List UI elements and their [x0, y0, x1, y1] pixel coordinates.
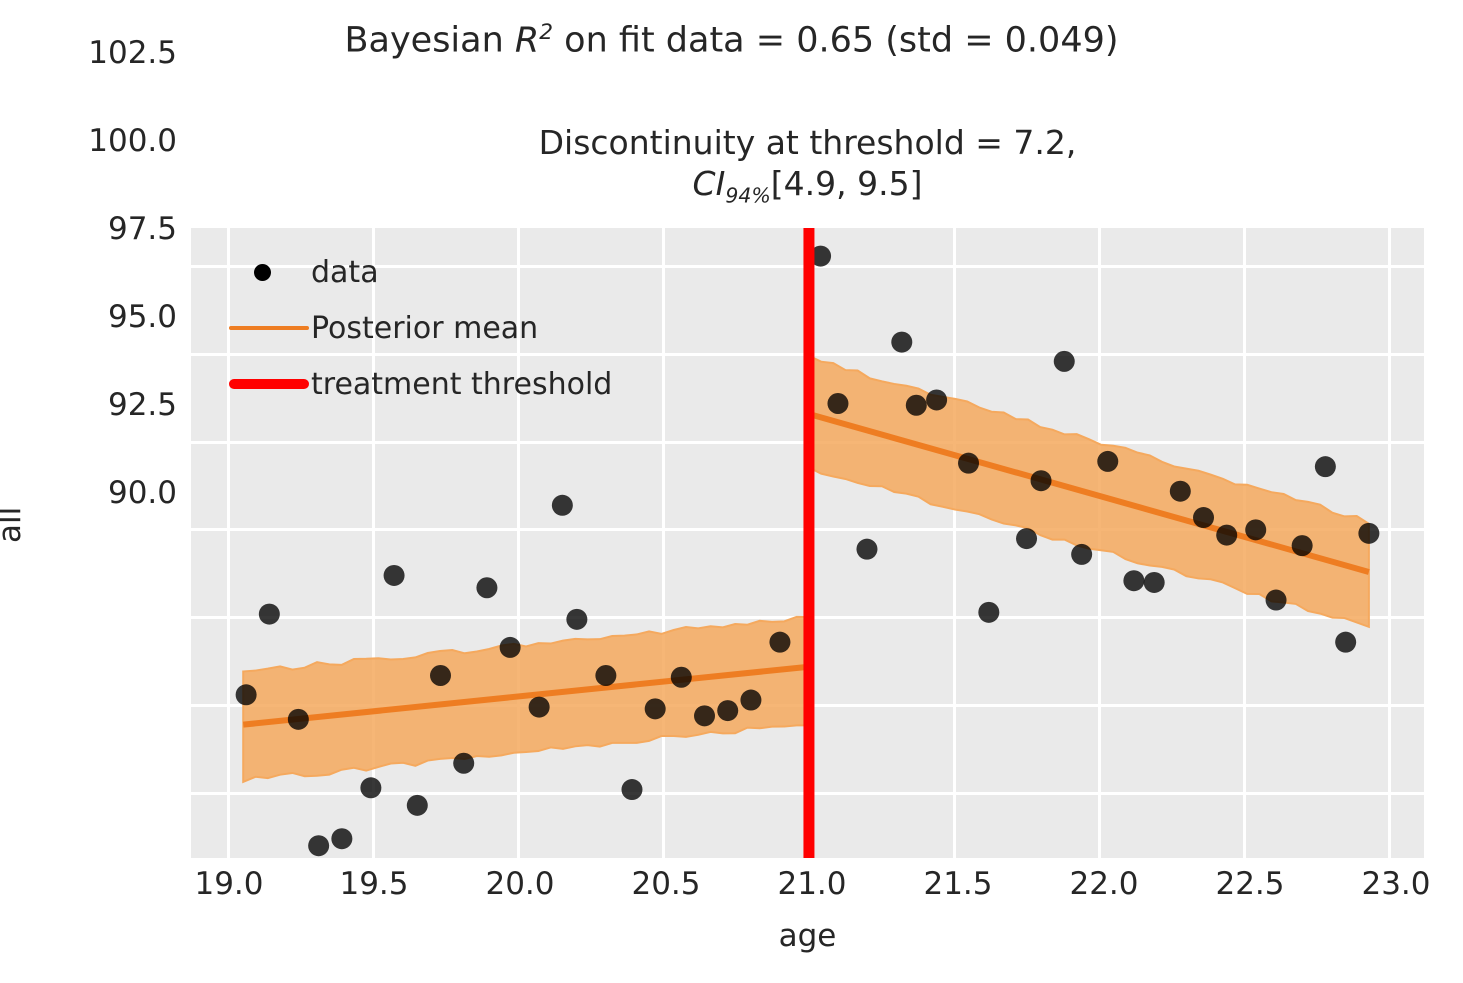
data-point[interactable] — [1170, 481, 1191, 502]
data-point[interactable] — [453, 753, 474, 774]
ci-level: 94% — [725, 184, 770, 208]
y-axis-label: all — [0, 507, 28, 543]
data-point[interactable] — [1245, 519, 1266, 540]
ytick-label: 100.0 — [88, 123, 177, 159]
ci-symbol: CI — [693, 164, 726, 203]
data-point[interactable] — [645, 698, 666, 719]
ci-interval: [4.9, 9.5] — [771, 164, 923, 203]
data-point[interactable] — [1031, 470, 1052, 491]
axes-title-line2: CI94%[4.9, 9.5] — [191, 163, 1424, 209]
legend-item-posterior-mean[interactable]: Posterior mean — [227, 300, 657, 356]
legend-item-data[interactable]: data — [227, 244, 657, 300]
posterior-mean-line-swatch — [227, 311, 311, 345]
data-point[interactable] — [958, 453, 979, 474]
xtick-label: 20.5 — [631, 866, 700, 902]
figure-suptitle: Bayesian R2 on fit data = 0.65 (std = 0.… — [0, 20, 1463, 61]
data-point[interactable] — [1216, 525, 1237, 546]
plot-area[interactable]: data Posterior mean treatment threshold — [191, 228, 1424, 858]
data-point[interactable] — [331, 828, 352, 849]
legend-item-treatment-threshold[interactable]: treatment threshold — [227, 356, 657, 412]
data-point[interactable] — [595, 665, 616, 686]
data-point[interactable] — [288, 709, 309, 730]
ytick-label: 102.5 — [88, 35, 177, 71]
xtick-label: 22.5 — [1215, 866, 1284, 902]
data-point[interactable] — [566, 609, 587, 630]
data-point[interactable] — [1144, 572, 1165, 593]
data-point[interactable] — [621, 779, 642, 800]
xtick-label: 19.5 — [339, 866, 408, 902]
xtick-label: 20.0 — [485, 866, 554, 902]
legend-label: treatment threshold — [311, 367, 612, 402]
ytick-label: 92.5 — [108, 387, 177, 423]
suptitle-suffix: on fit data = 0.65 (std = 0.049) — [553, 21, 1118, 61]
data-point[interactable] — [1016, 528, 1037, 549]
data-point[interactable] — [1358, 523, 1379, 544]
legend-label: Posterior mean — [311, 311, 538, 346]
xtick-label: 21.5 — [923, 866, 992, 902]
ytick-label: 90.0 — [108, 475, 177, 511]
legend: data Posterior mean treatment threshold — [227, 244, 657, 412]
figure-canvas: Bayesian R2 on fit data = 0.65 (std = 0.… — [0, 0, 1463, 983]
suptitle-exponent: 2 — [539, 20, 553, 45]
data-point[interactable] — [476, 577, 497, 598]
data-point[interactable] — [407, 795, 428, 816]
ytick-label: 95.0 — [108, 299, 177, 335]
data-point[interactable] — [529, 697, 550, 718]
data-point[interactable] — [1097, 451, 1118, 472]
data-point[interactable] — [384, 565, 405, 586]
x-axis-label: age — [191, 918, 1424, 954]
data-point[interactable] — [906, 395, 927, 416]
hdi-band-below_threshold — [243, 617, 809, 782]
threshold-line-swatch — [227, 367, 311, 401]
data-point[interactable] — [1292, 535, 1313, 556]
data-point[interactable] — [500, 637, 521, 658]
data-point[interactable] — [308, 835, 329, 856]
data-point[interactable] — [694, 705, 715, 726]
data-point[interactable] — [891, 332, 912, 353]
data-point[interactable] — [430, 665, 451, 686]
data-point[interactable] — [1193, 507, 1214, 528]
suptitle-r-symbol: R — [515, 21, 539, 61]
data-point[interactable] — [856, 539, 877, 560]
data-point[interactable] — [1054, 351, 1075, 372]
data-point[interactable] — [236, 684, 257, 705]
data-point[interactable] — [769, 632, 790, 653]
data-point[interactable] — [1266, 590, 1287, 611]
data-point[interactable] — [740, 690, 761, 711]
xtick-label: 21.0 — [777, 866, 846, 902]
data-point[interactable] — [1071, 544, 1092, 565]
suptitle-prefix: Bayesian — [344, 21, 514, 61]
data-point[interactable] — [1123, 570, 1144, 591]
data-point[interactable] — [360, 777, 381, 798]
data-marker-swatch — [227, 255, 311, 289]
axes-title-line1: Discontinuity at threshold = 7.2, — [191, 122, 1424, 163]
xtick-label: 19.0 — [194, 866, 263, 902]
data-point[interactable] — [552, 495, 573, 516]
data-point[interactable] — [259, 604, 280, 625]
xtick-label: 22.0 — [1069, 866, 1138, 902]
data-point[interactable] — [671, 667, 692, 688]
data-point[interactable] — [1335, 632, 1356, 653]
legend-label: data — [311, 255, 379, 290]
data-point[interactable] — [978, 602, 999, 623]
axes-title: Discontinuity at threshold = 7.2, CI94%[… — [191, 122, 1424, 209]
ytick-label: 97.5 — [108, 211, 177, 247]
data-point[interactable] — [926, 389, 947, 410]
data-point[interactable] — [1315, 456, 1336, 477]
data-point[interactable] — [827, 393, 848, 414]
xtick-label: 23.0 — [1361, 866, 1430, 902]
data-point[interactable] — [717, 700, 738, 721]
